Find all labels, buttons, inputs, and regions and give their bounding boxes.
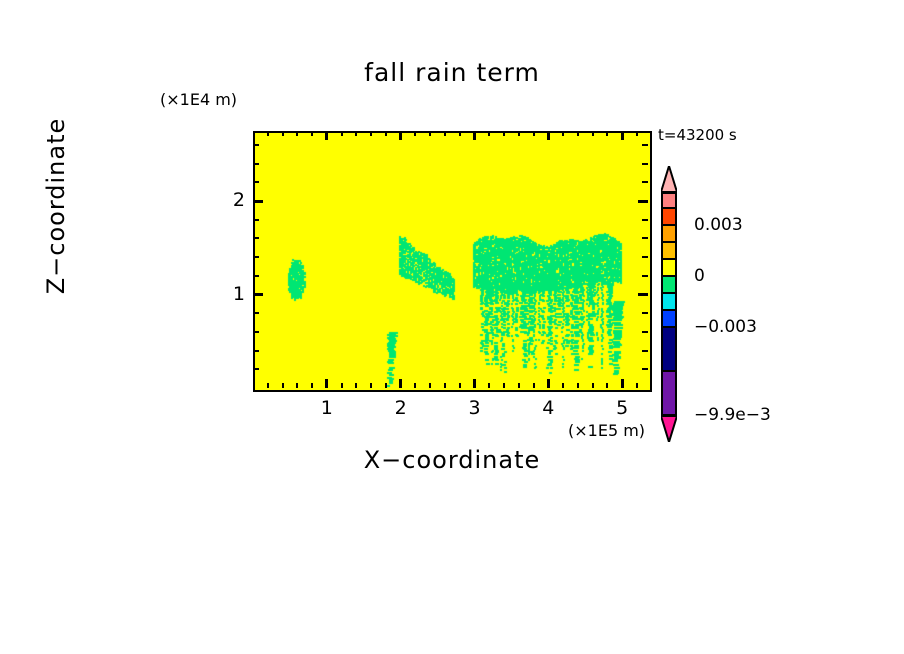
axis-tick	[606, 383, 608, 388]
axis-tick	[606, 131, 608, 136]
axis-tick	[325, 379, 328, 388]
axis-tick	[253, 181, 259, 183]
axis-tick	[488, 383, 490, 388]
axis-tick	[253, 312, 259, 314]
axis-tick	[253, 368, 259, 370]
axis-tick	[253, 275, 259, 277]
axis-tick	[533, 131, 535, 136]
axis-tick	[638, 200, 648, 203]
axis-tick	[253, 144, 259, 146]
axis-tick	[503, 383, 505, 388]
axis-tick	[399, 379, 402, 388]
x-tick-label: 4	[528, 397, 568, 419]
x-tick-label: 2	[381, 397, 421, 419]
axis-tick	[592, 131, 594, 136]
colorbar-min-arrow	[661, 416, 677, 442]
axis-tick	[399, 131, 402, 140]
axis-tick	[282, 131, 284, 136]
axis-tick	[642, 350, 648, 352]
axis-tick	[636, 383, 638, 388]
axis-tick	[355, 383, 357, 388]
x-tick-label: 3	[454, 397, 494, 419]
colorbar-band	[661, 328, 677, 372]
axis-tick	[547, 379, 550, 388]
axis-tick	[577, 383, 579, 388]
axis-tick	[638, 293, 648, 296]
axis-tick	[621, 379, 624, 388]
axis-tick	[282, 383, 284, 388]
axis-tick	[341, 383, 343, 388]
x-axis-unit: (×1E5 m)	[568, 421, 645, 440]
axis-tick	[385, 383, 387, 388]
axis-tick	[429, 383, 431, 388]
axis-tick	[642, 144, 648, 146]
axis-tick	[577, 131, 579, 136]
colorbar-band	[661, 277, 677, 294]
contour-field	[255, 133, 650, 390]
colorbar-band	[661, 311, 677, 328]
plot-area	[253, 131, 652, 392]
axis-tick	[253, 350, 259, 352]
axis-tick	[414, 383, 416, 388]
y-axis-label: Z−coordinate	[42, 86, 70, 326]
colorbar-band	[661, 226, 677, 243]
axis-tick	[518, 131, 520, 136]
x-tick-label: 1	[307, 397, 347, 419]
axis-tick	[253, 219, 259, 221]
axis-tick	[642, 237, 648, 239]
axis-tick	[533, 383, 535, 388]
colorbar-band	[661, 372, 677, 416]
colorbar-tick-label: −0.003	[694, 317, 757, 337]
axis-tick	[296, 131, 298, 136]
axis-tick	[253, 200, 263, 203]
axis-tick	[444, 383, 446, 388]
axis-tick	[296, 383, 298, 388]
colorbar-band	[661, 209, 677, 226]
colorbar-band	[661, 294, 677, 311]
axis-tick	[444, 131, 446, 136]
y-tick-label: 2	[205, 189, 245, 211]
axis-tick	[642, 163, 648, 165]
colorbar-tick-label: −9.9e−3	[694, 405, 771, 425]
axis-tick	[642, 312, 648, 314]
axis-tick	[518, 383, 520, 388]
chart-title: fall rain term	[0, 58, 904, 87]
y-axis-unit: (×1E4 m)	[160, 90, 237, 109]
axis-tick	[253, 293, 263, 296]
axis-tick	[621, 131, 624, 140]
axis-tick	[459, 383, 461, 388]
axis-tick	[325, 131, 328, 140]
axis-tick	[642, 368, 648, 370]
axis-tick	[267, 383, 269, 388]
axis-tick	[385, 131, 387, 136]
axis-tick	[473, 131, 476, 140]
axis-tick	[642, 256, 648, 258]
figure-canvas: fall rain term (×1E4 m) t=43200 s 12345 …	[0, 0, 904, 654]
axis-tick	[414, 131, 416, 136]
x-axis-label: X−coordinate	[0, 446, 904, 474]
colorbar-tick-label: 0.003	[694, 215, 743, 235]
axis-tick	[562, 131, 564, 136]
axis-tick	[355, 131, 357, 136]
axis-tick	[642, 331, 648, 333]
axis-tick	[311, 131, 313, 136]
colorbar-max-arrow	[661, 166, 677, 192]
axis-tick	[253, 237, 259, 239]
axis-tick	[311, 383, 313, 388]
x-tick-label: 5	[602, 397, 642, 419]
axis-tick	[370, 131, 372, 136]
colorbar-band	[661, 260, 677, 277]
axis-tick	[473, 379, 476, 388]
y-tick-label: 1	[205, 283, 245, 305]
axis-tick	[642, 219, 648, 221]
axis-tick	[562, 383, 564, 388]
colorbar	[661, 166, 677, 442]
axis-tick	[267, 131, 269, 136]
axis-tick	[642, 275, 648, 277]
colorbar-band	[661, 192, 677, 209]
axis-tick	[488, 131, 490, 136]
colorbar-band	[661, 243, 677, 260]
timestamp-annotation: t=43200 s	[658, 126, 737, 144]
colorbar-tick-label: 0	[694, 266, 705, 286]
axis-tick	[459, 131, 461, 136]
axis-tick	[253, 256, 259, 258]
axis-tick	[547, 131, 550, 140]
axis-tick	[253, 331, 259, 333]
axis-tick	[370, 383, 372, 388]
axis-tick	[429, 131, 431, 136]
axis-tick	[253, 163, 259, 165]
axis-tick	[642, 181, 648, 183]
axis-tick	[503, 131, 505, 136]
axis-tick	[592, 383, 594, 388]
axis-tick	[341, 131, 343, 136]
axis-tick	[636, 131, 638, 136]
